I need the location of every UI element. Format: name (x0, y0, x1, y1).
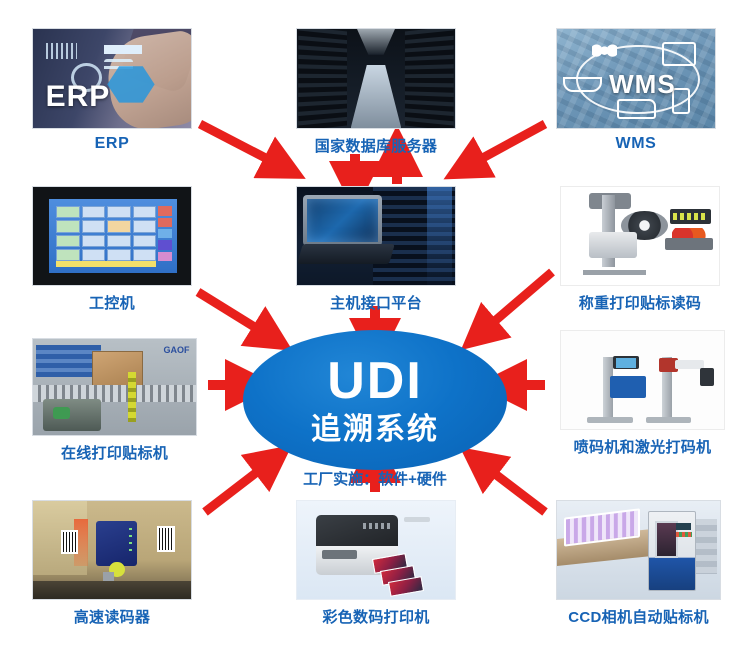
diagram-canvas: UDI 追溯系统 工厂实施：软件+硬件 ERP ERP 国家数据库服务器 W (0, 0, 750, 650)
node-weigh[interactable]: 称重打印贴标读码 (560, 186, 720, 313)
conveyor-badge-text: GAOF (163, 345, 189, 355)
arrow-weigh-to-hub (482, 272, 552, 332)
node-conveyor-image: GAOF (32, 338, 197, 436)
node-weigh-label: 称重打印贴标读码 (579, 292, 701, 313)
node-wms-label: WMS (616, 135, 657, 153)
node-server-image (296, 28, 456, 129)
wms-badge-text: WMS (609, 69, 676, 100)
hub-title-chinese: 追溯系统 (311, 415, 439, 445)
node-host-label: 主机接口平台 (330, 292, 422, 313)
hub-subtitle: 工厂实施：软件+硬件 (243, 468, 507, 489)
node-erp-image: ERP (32, 28, 192, 129)
node-ccd[interactable]: CCD相机自动贴标机 (556, 500, 721, 627)
node-hmi-image (32, 186, 192, 286)
node-conveyor-label: 在线打印贴标机 (61, 442, 168, 463)
hub-title-latin: UDI (327, 355, 423, 407)
node-wms-image: WMS (556, 28, 716, 129)
node-reader-image (32, 500, 192, 600)
node-reader[interactable]: 高速读码器 (32, 500, 192, 627)
node-ccd-image (556, 500, 721, 600)
node-ccd-label: CCD相机自动贴标机 (568, 606, 709, 627)
node-host[interactable]: 主机接口平台 (296, 186, 456, 313)
node-conveyor[interactable]: GAOF 在线打印贴标机 (32, 338, 197, 463)
arrow-erp-to-host (200, 124, 281, 166)
node-reader-label: 高速读码器 (74, 606, 151, 627)
arrow-hmi-to-hub (198, 292, 269, 336)
node-colorprint[interactable]: 彩色数码打印机 (296, 500, 456, 627)
node-colorprint-label: 彩色数码打印机 (322, 606, 429, 627)
node-server[interactable]: 国家数据库服务器 (296, 28, 456, 156)
arrow-wms-to-host (468, 124, 545, 166)
node-erp-label: ERP (95, 135, 130, 153)
node-colorprint-image (296, 500, 456, 600)
node-weigh-image (560, 186, 720, 286)
node-hmi-label: 工控机 (89, 292, 135, 313)
node-laser-image (560, 330, 725, 430)
node-laser[interactable]: 喷码机和激光打码机 (560, 330, 725, 457)
node-wms[interactable]: WMS WMS (556, 28, 716, 153)
erp-badge-text: ERP (46, 80, 111, 114)
node-hmi[interactable]: 工控机 (32, 186, 192, 313)
node-host-image (296, 186, 456, 286)
node-server-label: 国家数据库服务器 (315, 135, 437, 156)
node-erp[interactable]: ERP ERP (32, 28, 192, 153)
node-laser-label: 喷码机和激光打码机 (574, 436, 712, 457)
udi-hub-ellipse: UDI 追溯系统 (243, 330, 507, 470)
